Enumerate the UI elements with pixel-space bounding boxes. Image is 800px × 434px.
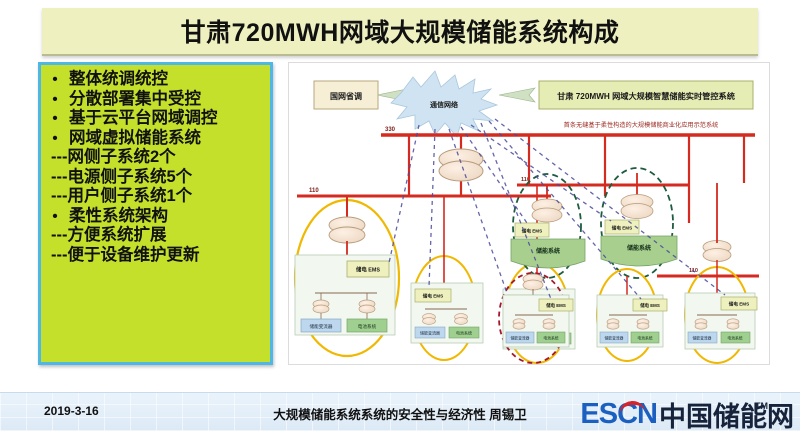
- list-item: • 网域虚拟储能系统: [47, 130, 266, 147]
- transformer-icon: [329, 217, 365, 243]
- list-item: ---网侧子系统2个: [47, 149, 266, 166]
- comm-link: [389, 125, 419, 263]
- bullet-label: ---用户侧子系统1个: [51, 188, 192, 205]
- list-item: ---电源侧子系统5个: [47, 169, 266, 186]
- bullet-panel: • 整体统调统控 • 分散部署集中受控 • 基于云平台网域调控 • 网域虚拟储能…: [38, 62, 273, 365]
- system-architecture-diagram: 国网省调 通信网络 甘肃 720MWH 网域大规模智慧储能实时管控系统 首条无缝…: [288, 62, 770, 365]
- trademark-label: TM: [755, 401, 768, 411]
- page-title: 甘肃720MWH网域大规模储能系统构成: [181, 13, 620, 49]
- battery-label: 电池系统: [637, 336, 652, 341]
- ems-label: 储电 EMS: [612, 225, 632, 232]
- escn-logo-chinese: 中国储能网 TM: [659, 395, 794, 434]
- transformer-icon: [621, 195, 653, 219]
- ems-label: 储电 EMS: [522, 228, 542, 235]
- voltage-label-330: 330: [385, 127, 396, 133]
- transformer-icon: [439, 149, 483, 181]
- storage-unit-group: 储电 EMS 储能变流器 电池系统: [411, 196, 483, 360]
- bullet-dot-icon: •: [47, 92, 63, 107]
- bullet-label: ---方便系统扩展: [51, 227, 166, 244]
- bullet-dot-icon: •: [47, 131, 63, 146]
- bullet-label: 分散部署集中受控: [63, 91, 201, 108]
- ems-label: 储电 EMS: [423, 293, 443, 300]
- battery-label: 电池系统: [358, 323, 377, 330]
- bullet-dot-icon: •: [47, 111, 63, 126]
- bullet-dot-icon: •: [47, 72, 63, 87]
- bullet-label: 整体统调统控: [63, 71, 168, 88]
- battery-label: 电池系统: [543, 336, 558, 341]
- diagram-svg: 国网省调 通信网络 甘肃 720MWH 网域大规模智慧储能实时管控系统 首条无缝…: [289, 63, 769, 364]
- escn-logo: ESCN 中国储能网 TM: [580, 395, 794, 434]
- bullet-label: 基于云平台网域调控: [63, 110, 218, 127]
- converter-label: 储能变流器: [693, 336, 712, 341]
- voltage-label-110-left: 110: [309, 188, 319, 194]
- bullet-label: 网域虚拟储能系统: [63, 130, 201, 147]
- storage-system-label: 储能系统: [535, 247, 560, 255]
- dispatch-box-label: 国网省调: [330, 91, 362, 101]
- slide-footer: 2019-3-16 大规模储能系统系统的安全性与经济性 周锡卫 ESCN 中国储…: [0, 392, 800, 431]
- red-note-label: 首条无缝基于柔性构造的大规模储能商业化应用示范系统: [564, 121, 719, 129]
- bullet-label: ---网侧子系统2个: [51, 149, 176, 166]
- converter-label: 储能变流器: [605, 336, 624, 341]
- list-item: • 分散部署集中受控: [47, 91, 266, 108]
- ems-label: 储电 EMS: [729, 301, 749, 308]
- control-system-label: 甘肃 720MWH 网域大规模智慧储能实时管控系统: [557, 91, 736, 101]
- comm-link: [429, 129, 435, 287]
- converter-label: 储能变流器: [420, 330, 440, 336]
- ems-label: 储电 EMS: [640, 302, 660, 309]
- ems-label: 储电 EMS: [546, 302, 566, 309]
- ems-label: 储电 EMS: [355, 266, 380, 274]
- transformer-icon: [703, 241, 731, 262]
- bullet-dot-icon: •: [47, 209, 63, 224]
- converter-label: 储能变流器: [511, 336, 530, 341]
- storage-unit-group: 储电 EMS 储能变流器 电池系统: [597, 269, 667, 361]
- bullet-label: ---电源侧子系统5个: [51, 169, 192, 186]
- converter-label: 储能变流器: [310, 323, 333, 330]
- escn-logo-chinese-text: 中国储能网: [659, 402, 794, 432]
- list-item: ---便于设备维护更新: [47, 247, 266, 264]
- arrow-cloud-to-control: [499, 88, 535, 102]
- comm-link: [489, 121, 641, 299]
- list-item: ---方便系统扩展: [47, 227, 266, 244]
- bullet-label: ---便于设备维护更新: [51, 247, 199, 264]
- list-item: • 整体统调统控: [47, 71, 266, 88]
- slide-title-box: 甘肃720MWH网域大规模储能系统构成: [42, 8, 758, 56]
- storage-unit-group: 储电 EMS 储能变流器 电池系统: [295, 196, 399, 356]
- list-item: • 柔性系统架构: [47, 208, 266, 225]
- list-item: • 基于云平台网域调控: [47, 110, 266, 127]
- battery-label: 电池系统: [456, 330, 472, 336]
- slide-root: 甘肃720MWH网域大规模储能系统构成 • 整体统调统控 • 分散部署集中受控 …: [0, 0, 800, 430]
- communication-network-label: 通信网络: [430, 100, 458, 109]
- escn-logo-latin: ESCN: [580, 398, 657, 431]
- list-item: ---用户侧子系统1个: [47, 188, 266, 205]
- transformer-icon: [532, 199, 562, 222]
- battery-label: 电池系统: [727, 336, 742, 341]
- bullet-label: 柔性系统架构: [63, 208, 168, 225]
- storage-system-label: 储能系统: [626, 244, 651, 252]
- transformer-icon: [523, 274, 543, 290]
